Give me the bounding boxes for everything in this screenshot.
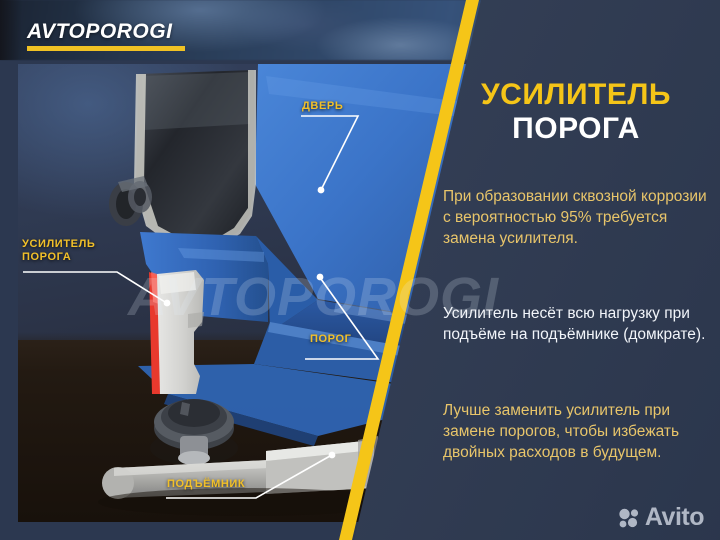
avito-dots-icon [618,508,640,528]
promo-banner: AVTOPOROGI [0,0,720,540]
body-paragraph-3: Лучше заменить усилитель при замене поро… [443,400,708,463]
page-title-line-2: ПОРОГА [445,112,707,146]
leader-line-usilitel [23,272,170,306]
page-title-line-1: УСИЛИТЕЛЬ [445,78,707,112]
callout-label-porog: ПОРОГ [310,333,351,346]
brand-logo: AVTOPOROGI [27,21,185,51]
callout-label-usilitel-poroga: УСИЛИТЕЛЬ ПОРОГА [22,238,95,264]
body-paragraph-2: Усилитель несёт всю нагрузку при подъёме… [443,303,708,345]
page-title: УСИЛИТЕЛЬ ПОРОГА [445,78,707,146]
avito-wordmark: Avito [645,505,704,530]
brand-logo-underline [27,46,185,51]
callout-label-podyomnik: ПОДЪЁМНИК [167,478,245,491]
brand-logo-text: AVTOPOROGI [27,21,185,42]
body-paragraph-1: При образовании сквозной коррозии с веро… [443,186,708,249]
header-left-shade [0,0,22,60]
avito-watermark: Avito [618,505,704,530]
callout-label-dver: ДВЕРЬ [302,100,343,113]
